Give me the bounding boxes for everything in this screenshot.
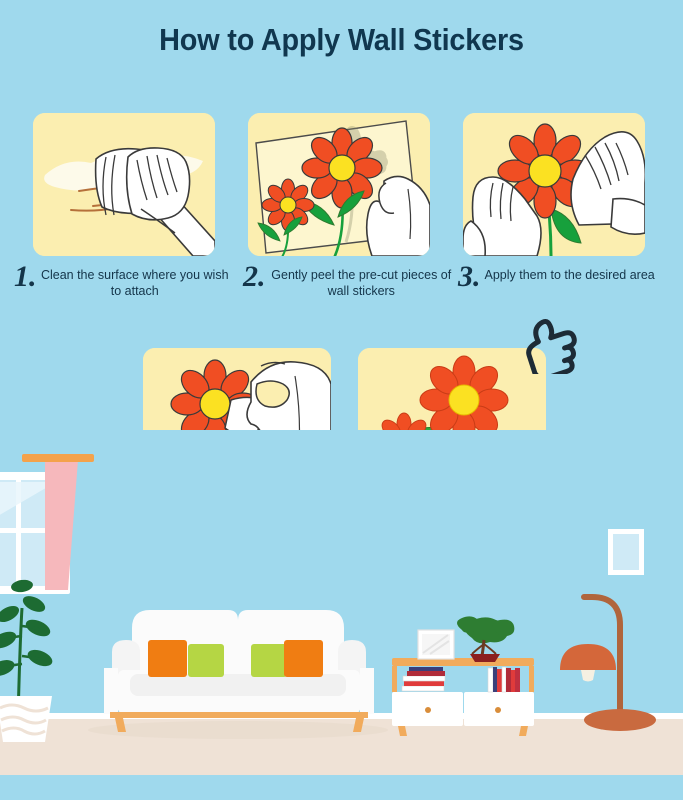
illustration-clean-surface <box>33 113 215 256</box>
illustration-apply-sticker <box>463 113 645 256</box>
wall-frame <box>608 529 644 575</box>
step-number-2: 2. <box>243 262 266 292</box>
thumbs-up-icon <box>520 316 582 374</box>
step-panel-1 <box>33 113 215 256</box>
books-upright <box>488 667 520 692</box>
curtain-rod <box>22 454 94 462</box>
illustration-peel-sticker <box>248 113 430 256</box>
infographic-root: How to Apply Wall Stickers <box>0 0 683 800</box>
step-caption-2: 2. Gently peel the pre-cut pieces of wal… <box>243 262 453 299</box>
step-panel-2 <box>248 113 430 256</box>
picture-frame <box>418 630 454 659</box>
page-title: How to Apply Wall Stickers <box>24 22 659 58</box>
room-scene <box>0 430 683 800</box>
step-number-1: 1. <box>14 262 37 292</box>
step-number-3: 3. <box>458 262 481 292</box>
step-text-1: Clean the surface where you wish to atta… <box>41 262 230 299</box>
step-caption-3: 3. Apply them to the desired area <box>458 262 658 292</box>
step-panel-3 <box>463 113 645 256</box>
step-text-3: Apply them to the desired area <box>485 262 655 284</box>
step-text-2: Gently peel the pre-cut pieces of wall s… <box>270 262 454 299</box>
step-caption-1: 1. Clean the surface where you wish to a… <box>14 262 229 299</box>
